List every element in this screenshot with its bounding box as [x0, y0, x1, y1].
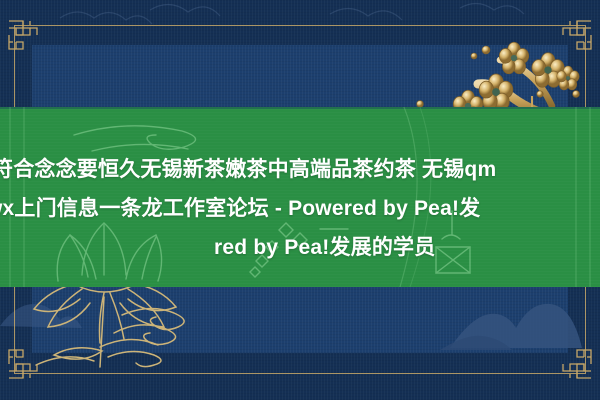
- green-band-top-edge: [0, 107, 600, 109]
- banner-canvas: 符合念念要恒久无锡新茶嫩茶中高端品茶约茶 无锡qm wx上门信息一条龙工作室论坛…: [0, 0, 600, 400]
- headline-line-1: 符合念念要恒久无锡新茶嫩茶中高端品茶约茶 无锡qm: [0, 151, 496, 189]
- headline-line-2: wx上门信息一条龙工作室论坛 - Powered by Pea!发: [0, 190, 480, 228]
- headline-line-3: red by Pea!发展的学员: [214, 229, 435, 267]
